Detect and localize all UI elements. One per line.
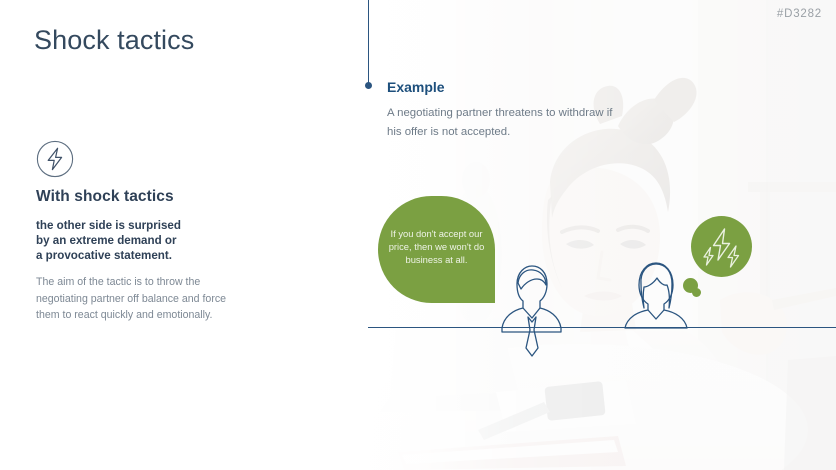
triple-lightning-bolt-icon <box>691 216 752 277</box>
slide-root: #D3282 Shock tactics With shock tactics … <box>0 0 836 470</box>
person-female-outline <box>620 258 692 330</box>
badge-trail-dot-small <box>692 288 701 297</box>
subhead-line-3: a provocative statement. <box>36 248 181 263</box>
subhead-line-1: the other side is surprised <box>36 218 181 233</box>
vertical-connector-line <box>368 0 369 86</box>
speech-bubble: If you don't accept our price, then we w… <box>378 196 495 303</box>
speech-bubble-text: If you don't accept our price, then we w… <box>378 227 495 272</box>
subhead-text: the other side is surprised by an extrem… <box>36 218 181 264</box>
connector-dot <box>365 82 372 89</box>
slide-id-code: #D3282 <box>777 8 822 20</box>
example-heading: Example <box>387 79 445 95</box>
page-title: Shock tactics <box>34 25 194 56</box>
subhead-line-2: by an extreme demand or <box>36 233 181 248</box>
horizontal-baseline <box>368 327 836 328</box>
lightning-bolt-circle-icon <box>36 140 74 178</box>
example-text: A negotiating partner threatens to withd… <box>387 104 617 141</box>
lead-heading: With shock tactics <box>36 188 174 206</box>
person-with-tie-outline <box>497 262 565 360</box>
body-paragraph: The aim of the tactic is to throw the ne… <box>36 274 251 324</box>
